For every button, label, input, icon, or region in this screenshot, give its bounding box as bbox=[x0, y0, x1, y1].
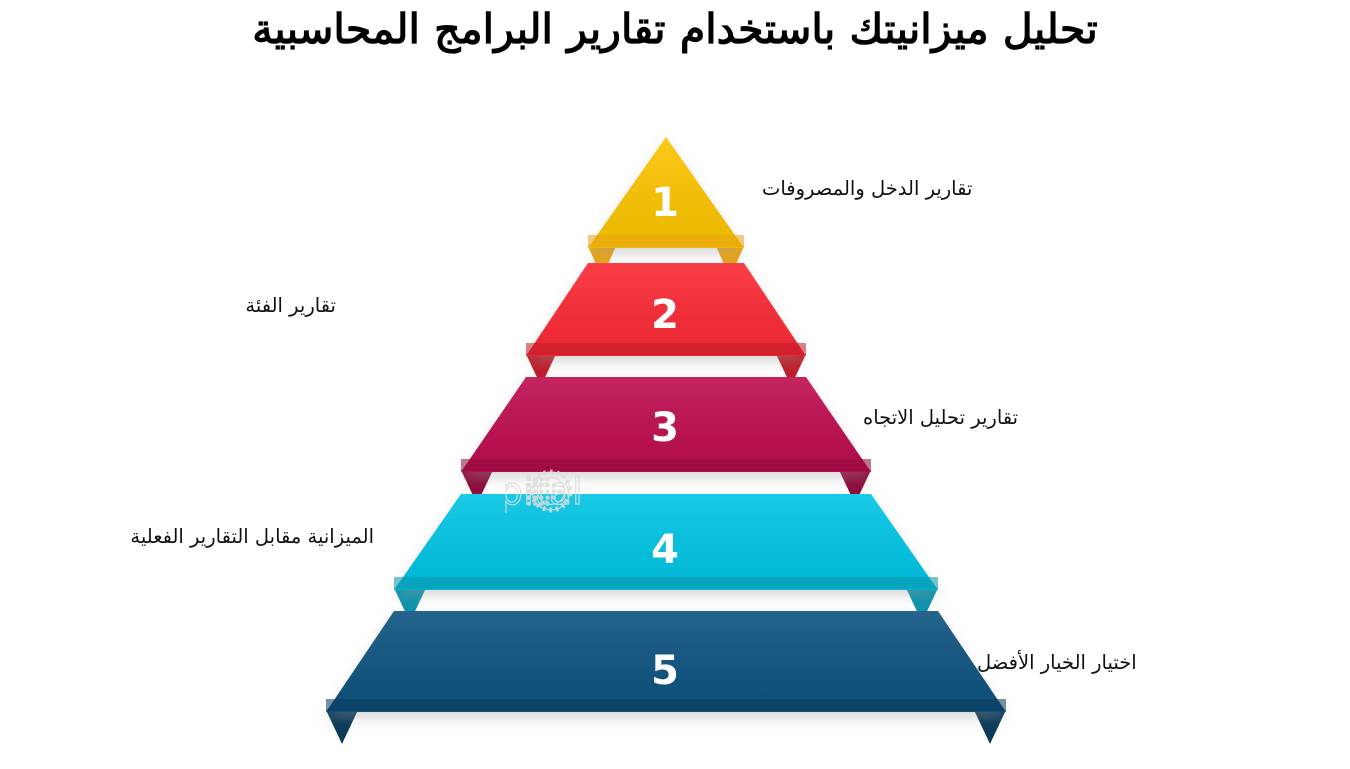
pyramid-tier-4 bbox=[394, 494, 938, 622]
tier-fold bbox=[326, 710, 358, 744]
tier-label-2: تقارير الفئة bbox=[213, 293, 336, 318]
tier-bottom-strip bbox=[526, 343, 806, 355]
tier-bottom-strip bbox=[394, 577, 938, 589]
pyramid-tier-1 bbox=[588, 137, 744, 278]
tier-label-5: اختيار الخيار الأفضل bbox=[977, 650, 1137, 675]
pyramid-tier-2 bbox=[526, 263, 806, 386]
pyramid-tier-5 bbox=[326, 611, 1006, 744]
tier-sheen bbox=[526, 263, 806, 356]
tier-fold bbox=[974, 710, 1006, 744]
infographic-canvas: تحليل ميزانيتك باستخدام تقارير البرامج ا… bbox=[0, 0, 1350, 769]
tier-sheen bbox=[394, 494, 938, 590]
tier-bottom-strip bbox=[326, 699, 1006, 711]
tier-sheen bbox=[588, 137, 744, 248]
tier-sheen bbox=[461, 377, 871, 472]
tier-bottom-strip bbox=[588, 235, 744, 247]
pyramid-diagram bbox=[0, 0, 1350, 769]
tier-label-1: تقارير الدخل والمصروفات bbox=[762, 176, 972, 201]
tier-bottom-strip bbox=[461, 459, 871, 471]
tier-sheen bbox=[326, 611, 1006, 712]
tier-label-4: الميزانية مقابل التقارير الفعلية bbox=[80, 524, 374, 549]
pyramid-tier-3 bbox=[461, 377, 871, 504]
tier-label-3: تقارير تحليل الاتجاه bbox=[863, 405, 1018, 430]
